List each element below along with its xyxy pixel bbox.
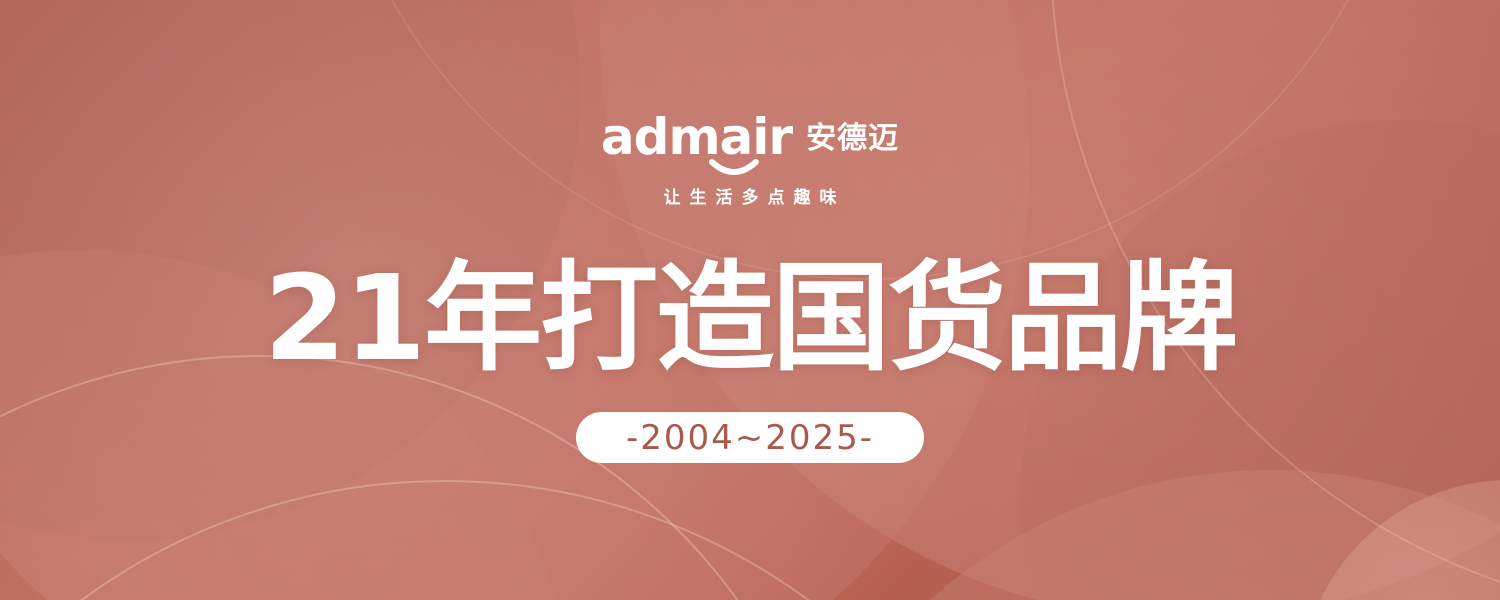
- year-range-text: -2004~2025-: [626, 421, 874, 455]
- promo-banner: admair 安德迈 让生活多点趣味 21年打造国货品牌 -2004~2025-: [0, 0, 1500, 600]
- brand-logo: admair 安德迈: [601, 104, 899, 162]
- year-range-badge: -2004~2025-: [576, 412, 924, 463]
- banner-headline: 21年打造国货品牌: [264, 256, 1236, 380]
- brand-tagline: 让生活多点趣味: [655, 186, 846, 210]
- banner-content: admair 安德迈 让生活多点趣味 21年打造国货品牌 -2004~2025-: [0, 0, 1500, 600]
- brand-wordmark: admair: [601, 112, 792, 162]
- brand-chinese-name: 安德迈: [806, 120, 899, 162]
- smile-arc-icon: [709, 159, 759, 179]
- brand-wordmark-wrap: admair: [601, 112, 792, 162]
